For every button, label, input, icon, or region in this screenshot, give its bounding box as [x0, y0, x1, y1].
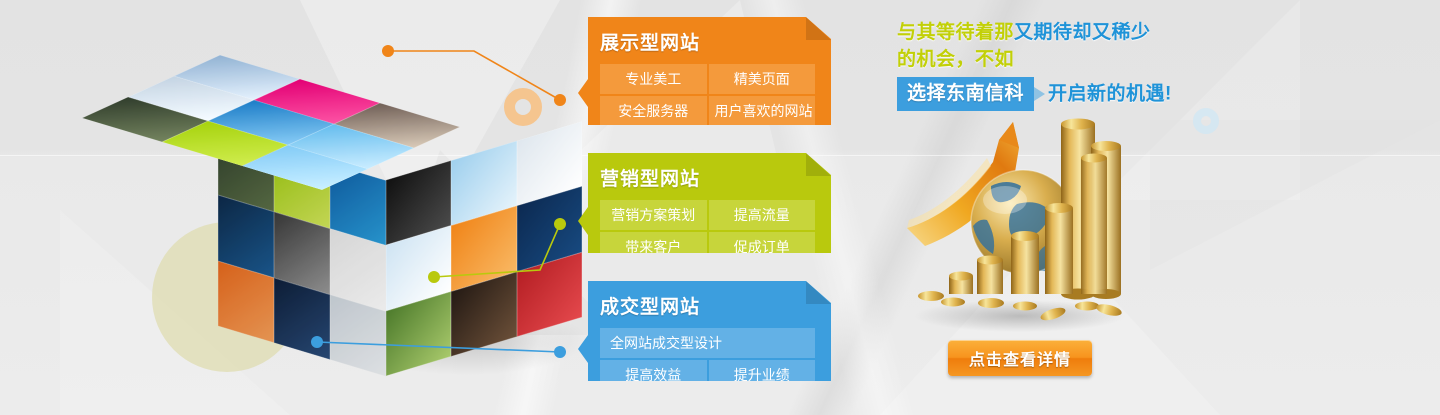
- headline-segment-green: 与其等待着那: [897, 22, 1014, 43]
- headline-block: 与其等待着那又期待却又稀少 的机会，不如 选择东南信科开启新的机遇!: [897, 19, 1197, 111]
- headline-line-2: 的机会，不如: [897, 46, 1197, 73]
- connector-deal: [317, 342, 560, 352]
- feature-cell: 全网站成交型设计: [600, 328, 815, 358]
- connector-display-dot: [382, 45, 394, 57]
- promo-banner: 展示型网站 专业美工 精美页面 安全服务器 用户喜欢的网站 营销型网站 营销方案…: [0, 0, 1440, 415]
- feature-cell: 用户喜欢的网站: [709, 96, 816, 126]
- card-title: 营销型网站: [600, 164, 815, 191]
- connector-marketing-dot: [554, 218, 566, 230]
- card-display-website[interactable]: 展示型网站 专业美工 精美页面 安全服务器 用户喜欢的网站: [578, 17, 831, 125]
- feature-cell: 营销方案策划: [600, 200, 707, 230]
- connector-deal-dot: [311, 336, 323, 348]
- card-marketing-website[interactable]: 营销型网站 营销方案策划 提高流量 带来客户 促成订单: [578, 153, 831, 253]
- coin-stack-medium-1: [1081, 154, 1107, 295]
- arrow-right-icon: [1034, 87, 1045, 101]
- card-feature-grid: 营销方案策划 提高流量 带来客户 促成订单: [600, 200, 815, 262]
- coin-stack-medium-3: [1011, 231, 1039, 294]
- connector-marketing: [434, 224, 560, 277]
- connector-deal-dot: [554, 346, 566, 358]
- card-title: 展示型网站: [600, 28, 815, 55]
- coin-stack-short-2: [949, 272, 973, 295]
- coin-stack-short-1: [977, 256, 1003, 295]
- connector-display-dot: [554, 94, 566, 106]
- headline-line-1: 与其等待着那又期待却又稀少: [897, 19, 1197, 46]
- coin-stack-medium-2: [1045, 203, 1073, 294]
- globe-coins-growth-illustration: [895, 100, 1130, 335]
- card-deal-website[interactable]: 成交型网站 全网站成交型设计 提高效益 提升业绩: [578, 281, 831, 381]
- headline-segment-blue: 又期待却又稀少: [1014, 22, 1151, 43]
- feature-cell: 安全服务器: [600, 96, 707, 126]
- feature-cell: 精美页面: [709, 64, 816, 94]
- feature-cell: 专业美工: [600, 64, 707, 94]
- connector-display: [388, 51, 560, 100]
- card-feature-grid: 专业美工 精美页面 安全服务器 用户喜欢的网站: [600, 64, 815, 126]
- card-feature-grid: 全网站成交型设计 提高效益 提升业绩: [600, 328, 815, 390]
- connector-marketing-dot: [428, 271, 440, 283]
- view-details-button[interactable]: 点击查看详情: [948, 340, 1092, 376]
- feature-cell: 提高流量: [709, 200, 816, 230]
- card-title: 成交型网站: [600, 292, 815, 319]
